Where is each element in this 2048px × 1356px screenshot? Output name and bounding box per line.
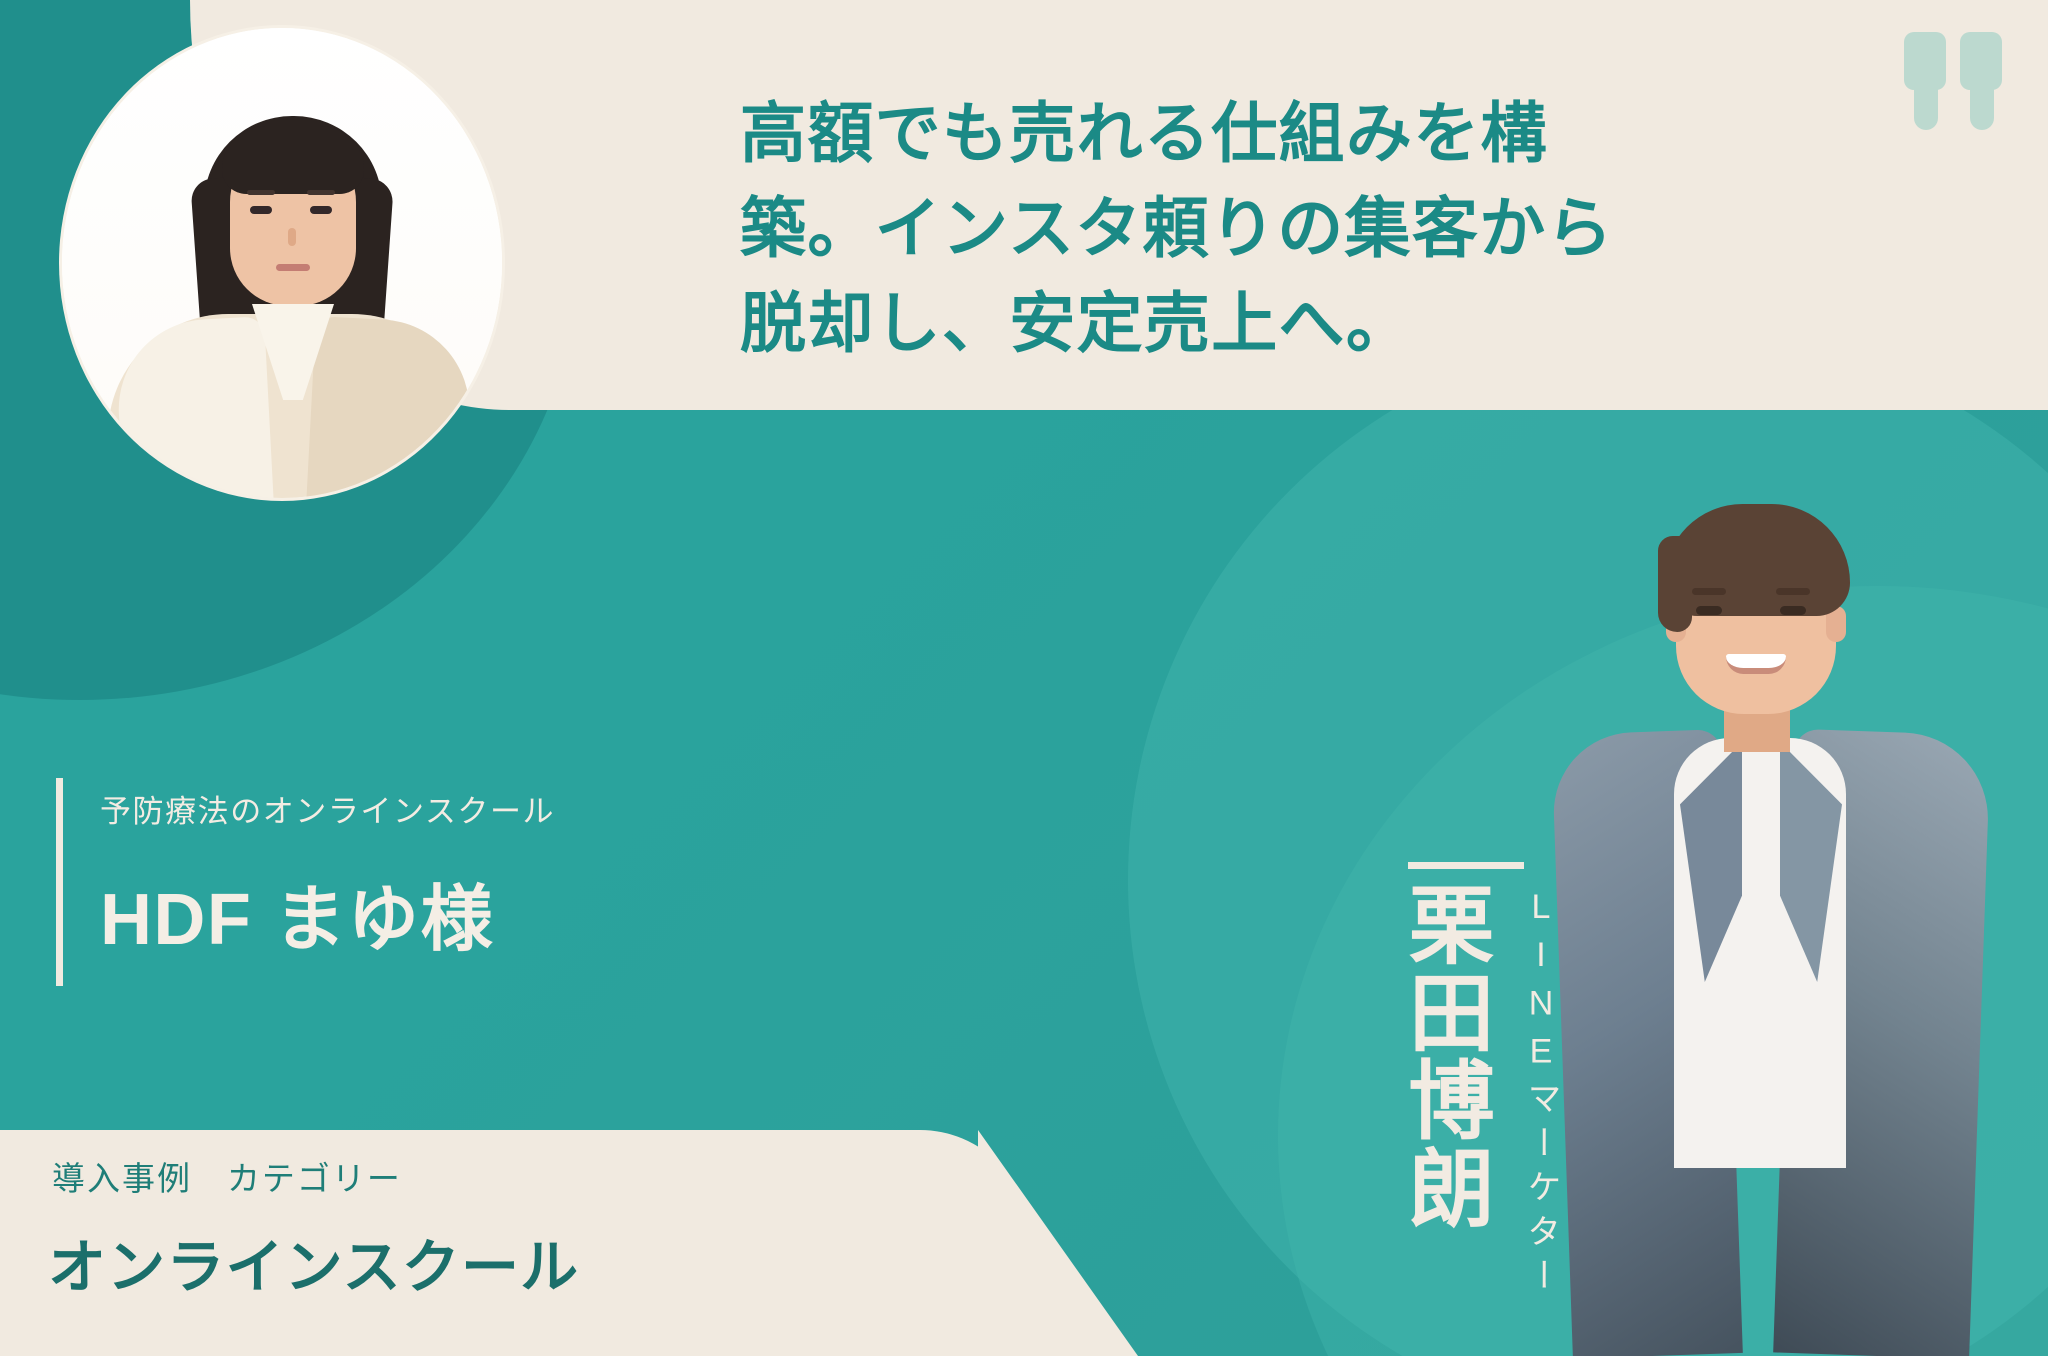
quote-line-1: 高額でも売れる仕組みを構 — [740, 86, 1920, 181]
client-accent-bar — [56, 778, 63, 986]
marketer-role: LINEマーケター — [1524, 888, 1558, 1302]
marketer-mouth — [1726, 654, 1786, 674]
quote-line-2: 築。インスタ頼りの集客から — [740, 181, 1920, 276]
footer-label: 導入事例 カテゴリー — [52, 1152, 402, 1200]
quote-headline: 高額でも売れる仕組みを構 築。インスタ頼りの集客から 脱却し、安定売上へ。 — [740, 86, 1920, 371]
portrait-nose — [288, 228, 296, 246]
marketer-eye-right — [1780, 606, 1806, 615]
marketer-eyebrow-left — [1692, 588, 1726, 595]
portrait-eye-left — [250, 206, 272, 214]
client-subtitle: 予防療法のオンラインスクール — [100, 786, 555, 831]
marketer-hair-side — [1658, 536, 1692, 632]
marketer-eye-left — [1696, 606, 1722, 615]
portrait-eyebrow-right — [307, 190, 335, 195]
quote-line-3: 脱却し、安定売上へ。 — [740, 276, 1920, 371]
portrait-mouth — [276, 264, 310, 271]
client-portrait — [62, 28, 502, 498]
marketer-name: 栗田博朗 — [1400, 880, 1486, 1231]
marketer-name-rule — [1408, 862, 1524, 869]
client-name: HDF まゆ様 — [100, 860, 494, 965]
footer-category: オンラインスクール — [48, 1220, 579, 1304]
case-study-card: 高額でも売れる仕組みを構 築。インスタ頼りの集客から 脱却し、安定売上へ。 — [0, 0, 2048, 1356]
portrait-fringe — [222, 126, 364, 194]
portrait-eyebrow-left — [247, 190, 275, 195]
marketer-eyebrow-right — [1776, 588, 1810, 595]
portrait-eye-right — [310, 206, 332, 214]
marketer-portrait — [1488, 476, 2048, 1356]
